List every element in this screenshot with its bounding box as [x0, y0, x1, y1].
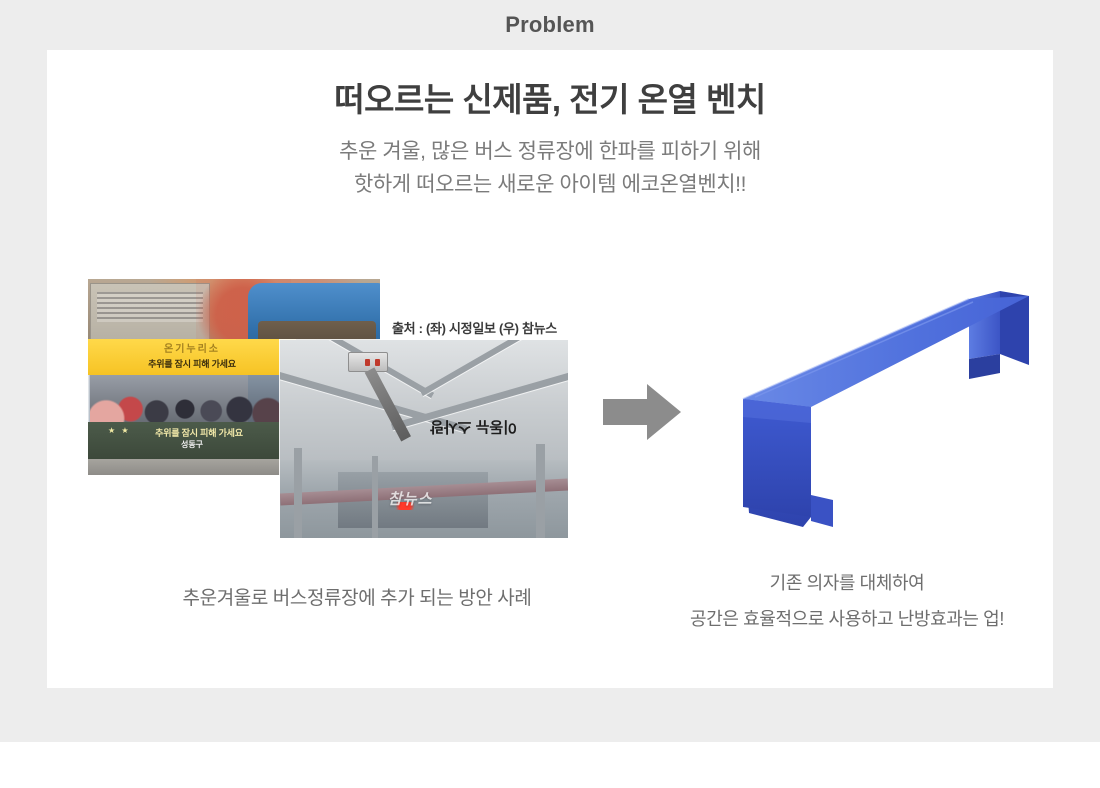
caption-left: 추운겨울로 버스정류장에 추가 되는 방안 사례 — [77, 583, 637, 610]
photo2-post-right — [536, 444, 545, 538]
page-title: Problem — [0, 12, 1100, 38]
photo2-overhead-heater — [348, 352, 388, 372]
photo2-roof-panels — [280, 340, 568, 460]
source-caption: 출처 : (좌) 시정일보 (우) 참뉴스 — [392, 318, 557, 337]
blue-heated-bench-render — [707, 255, 1057, 545]
bus-shelter-heater-photo: 이동뉴 스사랑 참뉴스 — [280, 340, 568, 538]
photo2-heater-indicator-1 — [365, 359, 370, 366]
photo2-post-left — [294, 448, 302, 538]
photo2-sign-text: 이동뉴 스사랑 — [430, 418, 517, 434]
photo1-panel-text: 추위를 잠시 피해 가세요 — [114, 426, 284, 439]
photo1-lower-panel: ★ ★ 추위를 잠시 피해 가세요 성동구 — [88, 422, 296, 460]
slide-page: Problem 떠오르는 신제품, 전기 온열 벤치 추운 겨울, 많은 버스 … — [0, 0, 1100, 788]
photo2-heater-indicator-2 — [375, 359, 380, 366]
right-arrow-icon — [603, 382, 681, 442]
photo2-post-center — [372, 456, 378, 538]
caption-right-line-1: 기존 의자를 대체하여 — [647, 565, 1047, 601]
caption-right-line-2: 공간은 효율적으로 사용하고 난방효과는 업! — [647, 601, 1047, 637]
photo1-yellow-banner: 온기누리소 추위를 잠시 피해 가세요 — [88, 339, 296, 375]
photo1-banner-text: 추위를 잠시 피해 가세요 — [88, 357, 296, 370]
caption-right: 기존 의자를 대체하여 공간은 효율적으로 사용하고 난방효과는 업! — [647, 565, 1047, 637]
photo-group: 6860 온기누리소 추위를 잠시 피해 가세요 ★ ★ 추위를 잠시 피해 가… — [47, 50, 1053, 688]
photo1-banner-top-text: 온기누리소 — [88, 340, 296, 355]
photo2-watermark: 참뉴스 — [388, 488, 498, 518]
photo1-panel-logo-text: 성동구 — [88, 439, 296, 450]
content-card: 떠오르는 신제품, 전기 온열 벤치 추운 겨울, 많은 버스 정류장에 한파를… — [47, 50, 1053, 688]
